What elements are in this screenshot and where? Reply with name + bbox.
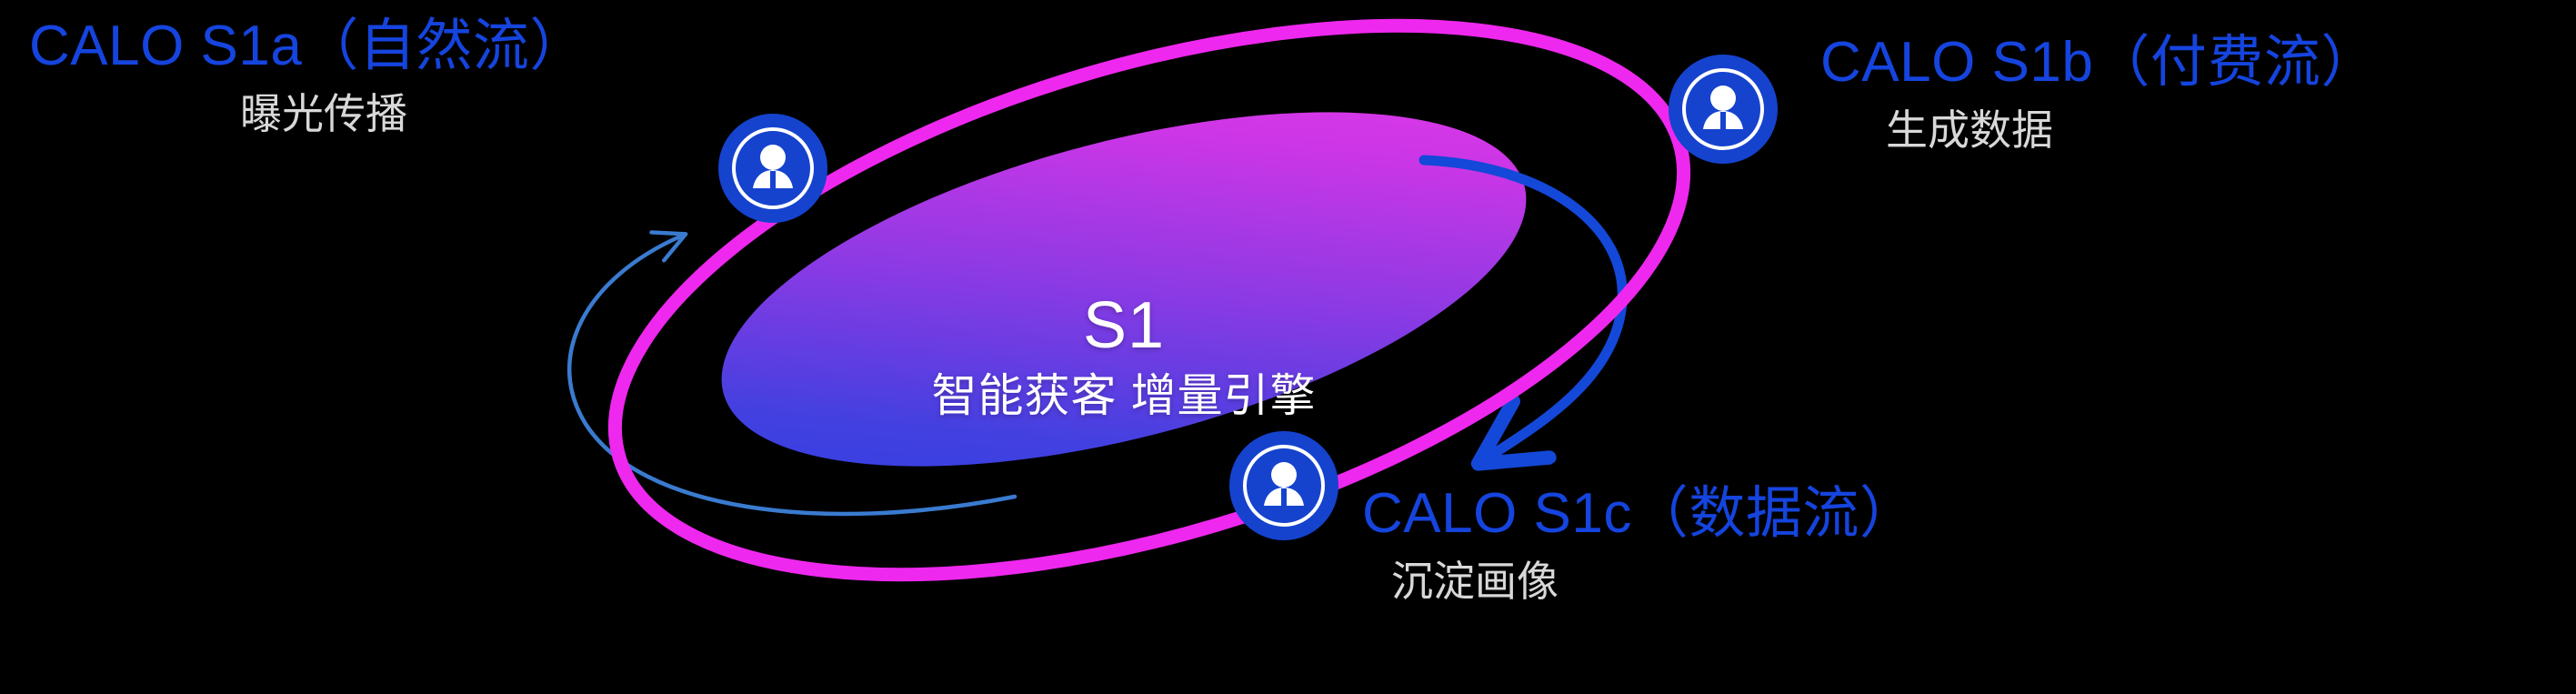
label-s1b-sub: 生成数据 [1886, 108, 2378, 152]
label-s1a-sub: 曝光传播 [240, 92, 586, 136]
label-s1a: CALO S1a（自然流） 曝光传播 [29, 16, 586, 136]
label-s1c-sub: 沉淀画像 [1391, 559, 1916, 603]
node-s1c[interactable] [1229, 431, 1338, 540]
label-s1c-title: CALO S1c（数据流） [1362, 484, 1916, 543]
node-s1a[interactable] [718, 114, 827, 223]
label-s1a-title: CALO S1a（自然流） [29, 16, 586, 75]
core-ellipse [687, 42, 1562, 536]
label-s1c: CALO S1c（数据流） 沉淀画像 [1362, 484, 1916, 603]
diagram-canvas: S1 智能获客 增量引擎 CALO S1a（自然流） 曝光传播 CALO S1b… [0, 0, 2576, 694]
label-s1b-title: CALO S1b（付费流） [1820, 33, 2378, 92]
node-s1b[interactable] [1669, 55, 1778, 164]
label-s1b: CALO S1b（付费流） 生成数据 [1820, 33, 2378, 152]
